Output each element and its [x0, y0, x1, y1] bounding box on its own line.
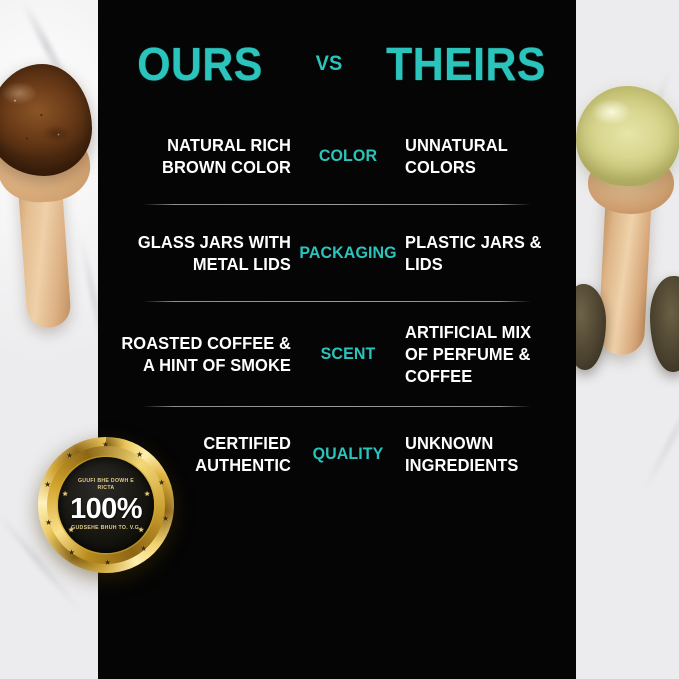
star-icon: ★ — [140, 545, 147, 553]
star-icon: ★ — [66, 452, 73, 460]
header-vs-label: VS — [294, 52, 364, 76]
header-theirs-label: THEIRS — [373, 37, 559, 91]
star-icon: ★ — [68, 527, 74, 534]
star-icon: ★ — [158, 479, 165, 487]
row-theirs-text: UNNATURAL COLORS — [405, 134, 555, 178]
badge-face: GUUFI BHE DOWH E RICTA 100% GUDSEHE BHUH… — [58, 457, 154, 553]
marble-vein — [637, 365, 679, 500]
star-icon: ★ — [45, 519, 52, 527]
header-ours-label: OURS — [114, 37, 285, 91]
badge-percent-value: 100% — [70, 495, 142, 524]
comparison-row: ROASTED COFFEE & A HINT OF SMOKE SCENT A… — [98, 302, 576, 406]
row-category-label: QUALITY — [294, 444, 401, 464]
badge-top-text: GUUFI BHE DOWH E RICTA — [69, 478, 143, 492]
star-icon: ★ — [104, 559, 111, 567]
brown-coffee-scrub — [0, 64, 92, 176]
row-ours-text: ROASTED COFFEE & A HINT OF SMOKE — [120, 332, 291, 376]
row-category-label: PACKAGING — [294, 243, 401, 263]
badge-bottom-text: GUDSEHE BHUH TO. V.G. — [69, 525, 143, 532]
star-icon: ★ — [162, 515, 169, 523]
row-theirs-text: ARTIFICIAL MIX OF PERFUME & COFFEE — [405, 321, 555, 387]
star-icon: ★ — [68, 549, 75, 557]
star-icon: ★ — [44, 481, 51, 489]
comparison-header: OURS VS THEIRS — [98, 28, 576, 100]
row-category-label: COLOR — [294, 146, 401, 166]
row-category-label: SCENT — [294, 344, 401, 364]
comparison-row: NATURAL RICH BROWN COLOR COLOR UNNATURAL… — [98, 108, 576, 204]
star-icon: ★ — [102, 441, 109, 449]
row-theirs-text: PLASTIC JARS & LIDS — [405, 231, 555, 275]
star-icon: ★ — [136, 451, 143, 459]
row-ours-text: NATURAL RICH BROWN COLOR — [120, 134, 291, 178]
product-photo-ours — [0, 58, 106, 318]
star-icon: ★ — [62, 491, 68, 498]
comparison-row: GLASS JARS WITH METAL LIDS PACKAGING PLA… — [98, 205, 576, 301]
row-ours-text: GLASS JARS WITH METAL LIDS — [120, 231, 291, 275]
row-theirs-text: UNKNOWN INGREDIENTS — [405, 432, 555, 476]
authenticity-badge: ★ ★ ★ ★ ★ ★ ★ ★ ★ ★ GUUFI BHE DOWH E RIC… — [38, 437, 174, 573]
comparison-panel: OURS VS THEIRS NATURAL RICH BROWN COLOR … — [98, 0, 576, 679]
star-icon: ★ — [138, 527, 144, 534]
star-icon: ★ — [144, 491, 150, 498]
pale-yellow-cream — [576, 86, 679, 186]
